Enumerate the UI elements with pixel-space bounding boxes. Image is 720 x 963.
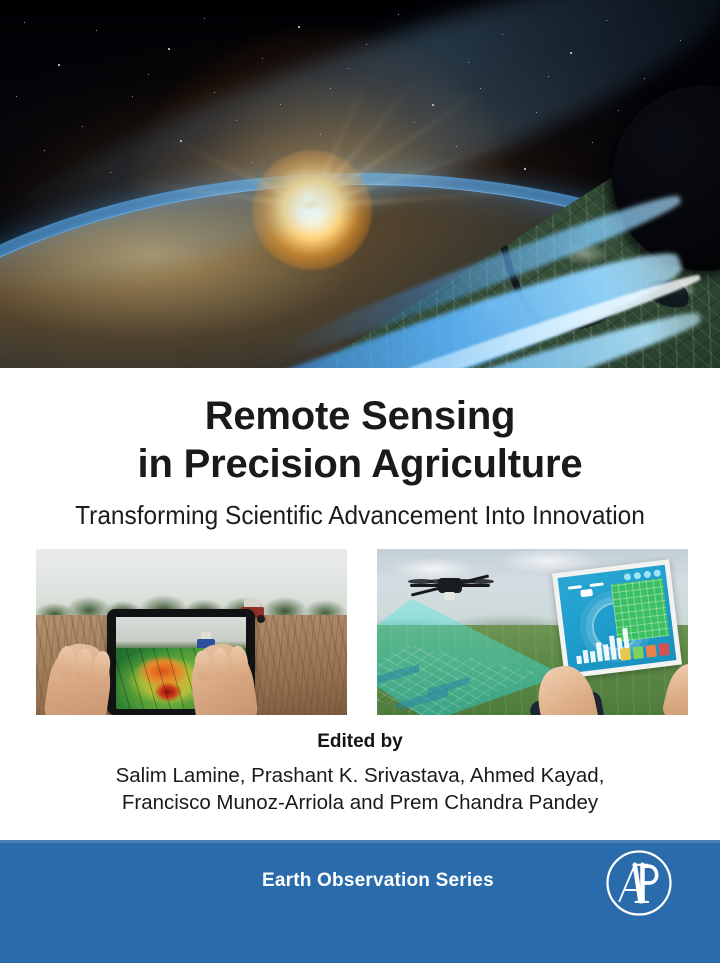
bar [608,635,616,660]
photo-drone-field-dashboard [377,549,688,715]
legend-swatch [658,643,669,656]
bar [595,641,602,661]
title-block: Remote Sensing in Precision Agriculture … [0,368,720,532]
scan-plot [395,688,448,711]
dot [652,569,660,577]
editor-names-line-2: Francisco Munoz-Arriola and Prem Chandra… [0,789,720,816]
bar [575,655,581,664]
book-cover: Remote Sensing in Precision Agriculture … [0,0,720,963]
editor-names-line-1: Salim Lamine, Prashant K. Srivastava, Ah… [0,762,720,789]
drone-icon-rotor [567,584,581,589]
scan-plot [377,664,420,686]
series-name: Earth Observation Series [262,868,494,894]
agricultural-drone [408,572,492,602]
header-artwork [0,0,720,368]
legend-swatch [619,648,630,661]
bar [602,644,609,661]
drone-icon-rotor [589,582,603,587]
tablet-dashboard-screen [557,564,676,672]
tractor-wheel [257,615,265,623]
edited-by-label: Edited by [0,730,720,754]
bar [589,650,595,662]
book-title-line-2: in Precision Agriculture [0,440,720,488]
legend-swatch [632,646,643,659]
drone-icon-body [579,588,592,596]
dot [643,570,651,578]
finger [192,650,213,682]
academic-press-logo-icon [604,848,674,918]
finger [210,647,231,679]
dot [623,572,631,580]
legend-swatch [645,644,656,657]
book-subtitle: Transforming Scientific Advancement Into… [22,498,699,532]
bar [582,649,589,663]
banner-divider [0,840,720,843]
cover-photo-strip [36,549,688,715]
drone-camera [444,592,455,600]
series-banner: Earth Observation Series [0,840,720,963]
drone-icon [567,580,605,604]
photo-tablet-field-heatmap [36,549,347,715]
book-title-line-1: Remote Sensing [0,392,720,440]
dot [633,571,641,579]
tablet-device [552,559,682,679]
editors-block: Edited by Salim Lamine, Prashant K. Sriv… [0,730,720,816]
